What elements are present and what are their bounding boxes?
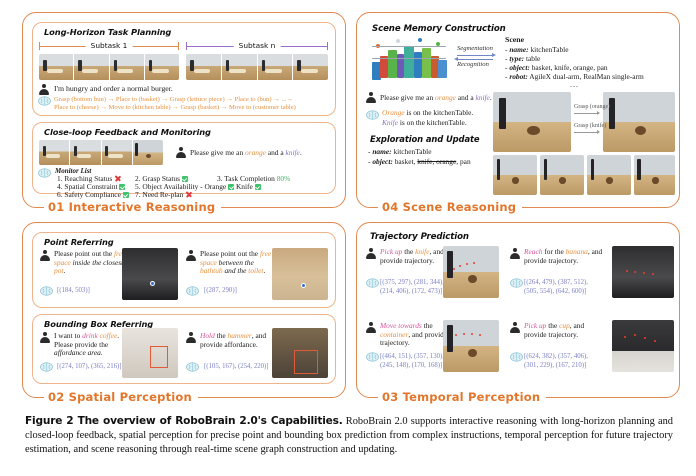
update-field-object: - object: basket, knife, orange, pan xyxy=(368,158,471,167)
field-value: kitchenTable xyxy=(392,147,432,156)
field-key: object: xyxy=(509,63,530,72)
brain-icon xyxy=(366,278,379,288)
video-frame xyxy=(70,140,100,165)
brain-icon xyxy=(40,362,53,372)
scene-image-seq-4 xyxy=(634,155,675,195)
video-frame xyxy=(39,140,69,165)
user-icon xyxy=(510,322,520,333)
panel-label-02: 02 Spatial Perception xyxy=(44,390,198,404)
q-line2: the closest xyxy=(92,258,123,267)
utterance-post: . xyxy=(300,148,302,157)
bbox-image-coffee xyxy=(122,328,178,378)
filmstrip-subtask-n xyxy=(186,54,328,80)
point-ref-answer-1: [(184, 503)] xyxy=(57,287,90,296)
caption-heading: Figure 2 The overview of RoboBrain 2.0's… xyxy=(25,415,343,427)
video-frame xyxy=(102,140,132,165)
user-icon xyxy=(176,147,186,158)
panel-label-03: 03 Temporal Perception xyxy=(378,390,546,404)
field-value: basket, knife, orange, pan xyxy=(530,63,608,72)
item-extra-label: Knife xyxy=(236,182,253,191)
user-icon xyxy=(186,332,196,343)
field-key: name: xyxy=(509,45,528,54)
trajectory-point xyxy=(459,265,461,267)
answer-text: is on the kitchenTable. xyxy=(405,108,474,117)
field-value: AgileX dual-arm, RealMan single-arm xyxy=(528,72,644,81)
user-icon xyxy=(366,322,376,333)
keyword-knife: knife xyxy=(475,93,489,102)
bracket-label-subtask-1: Subtask 1 xyxy=(86,41,133,50)
video-frame xyxy=(258,54,293,80)
trajectory-point xyxy=(626,270,628,272)
bracket-label-subtask-n: Subtask n xyxy=(234,41,281,50)
scene-image-seq-1 xyxy=(493,155,537,195)
trajectory-point xyxy=(624,336,626,338)
scene-heading: Scene xyxy=(505,36,524,45)
video-frame xyxy=(222,54,257,80)
q-line3: affordance area. xyxy=(54,348,103,357)
filmstrip-close-loop xyxy=(39,140,163,165)
scene-user-utterance: Please give me an orange and a knife. xyxy=(380,94,492,103)
bracket-subtask-1: Subtask 1 xyxy=(39,42,179,50)
user-icon xyxy=(510,248,520,259)
trajectory-point xyxy=(644,337,646,339)
check-icon xyxy=(123,192,129,198)
brain-icon xyxy=(186,362,199,372)
q-line2: trajectory. xyxy=(380,338,410,347)
traj-answer-1-line1: [(375, 297), (281, 344), xyxy=(380,279,444,288)
field-value: table xyxy=(524,54,540,63)
q-line2: provide trajectory. xyxy=(380,256,434,265)
scene-image-grasp-before xyxy=(493,92,571,152)
trajectory-point xyxy=(463,333,465,335)
cross-icon xyxy=(185,191,192,198)
traj-answer-4-line2: (301, 229), (167, 210)] xyxy=(524,362,586,371)
arrow-label-recognition: Recognition xyxy=(457,61,489,70)
q-line2: provide affordance. xyxy=(200,340,258,349)
predicted-bbox xyxy=(294,350,318,374)
grasp-arrow-line-bottom xyxy=(574,132,598,133)
field-value: kitchenTable xyxy=(529,45,569,54)
field-value-pre: basket, xyxy=(393,157,417,166)
q-end: . xyxy=(63,266,65,275)
point-ref-question-2: Please point out the free space between … xyxy=(200,250,276,276)
grasp-arrow-line-top xyxy=(574,113,598,114)
scene-image-seq-3 xyxy=(587,155,631,195)
segmentation-arrow-head xyxy=(492,53,496,57)
traj-answer-2-line1: [(264, 479), (387, 512), xyxy=(524,279,588,288)
traj-answer-3-line2: (245, 148), (170, 168)] xyxy=(380,362,442,371)
bbox-question-2: Hold the hammer, and provide affordance. xyxy=(200,332,276,349)
bracket-subtask-n: Subtask n xyxy=(186,42,328,50)
user-icon xyxy=(40,250,50,261)
predicted-bbox xyxy=(150,346,168,368)
q-end: . xyxy=(117,331,119,340)
brain-icon xyxy=(510,352,523,362)
keyword-knife: knife xyxy=(285,148,299,157)
brain-icon xyxy=(40,286,53,296)
bbox-answer-2: [(105, 167), (254, 220)] xyxy=(204,363,269,372)
task-completion-value: 80% xyxy=(277,174,291,183)
bbox-answer-1: [(274, 107), (365, 216)] xyxy=(57,363,122,372)
recognition-arrow-line xyxy=(457,59,493,60)
point-ref-image-1 xyxy=(122,248,178,300)
trajectory-point xyxy=(634,271,636,273)
plan-line-1: Grasp (bottom bun) → Place to (basket) →… xyxy=(54,96,293,104)
brain-icon xyxy=(510,278,523,288)
point-ref-image-2 xyxy=(272,248,328,300)
filmstrip-subtask-1 xyxy=(39,54,179,80)
grasp-label-knife: Grasp (knife) xyxy=(574,122,606,131)
video-frame xyxy=(133,140,163,165)
field-key: type: xyxy=(509,54,524,63)
update-field-name: - name: kitchenTable xyxy=(368,148,432,157)
segmentation-arrow-line xyxy=(457,55,493,56)
user-icon xyxy=(366,248,376,259)
arrow-label-segmentation: Segmentation xyxy=(457,45,493,54)
field-value-post: , pan xyxy=(456,157,470,166)
cross-icon xyxy=(114,175,121,182)
traj-answer-1-line2: (214, 406), (172, 473)] xyxy=(380,288,442,297)
keyword-knife: Knife xyxy=(382,118,398,127)
keyword-orange: orange xyxy=(245,148,266,157)
item-label: Safety Compliance xyxy=(64,190,120,199)
item-number: 7. xyxy=(135,190,141,199)
scene-image-grasp-after xyxy=(603,92,675,152)
utterance-post: . xyxy=(490,93,492,102)
brain-icon xyxy=(366,110,379,120)
trajectory-point xyxy=(466,263,468,265)
user-utterance-orange-knife: Please give me an orange and a knife. xyxy=(190,149,302,158)
panel-label-04: 04 Scene Reasoning xyxy=(378,200,522,214)
utterance-pre: Please give me an xyxy=(380,93,435,102)
card-title-trajectory-prediction: Trajectory Prediction xyxy=(366,232,473,242)
point-ref-question-1: Please point out the free space inside t… xyxy=(54,250,132,276)
card-title-point-referring: Point Referring xyxy=(40,237,118,247)
scene-answer-line-1: Orange is on the kitchenTable. xyxy=(382,109,473,118)
answer-text: is on the kitchenTable. xyxy=(398,118,467,127)
card-title-scene-memory: Scene Memory Construction xyxy=(368,24,510,34)
q-end: , xyxy=(588,247,590,256)
point-ref-answer-2: [(287, 290)] xyxy=(204,287,237,296)
predicted-point xyxy=(151,282,154,285)
scene-point-cloud xyxy=(366,36,452,82)
plan-line-2: Place to (cheese) → Move to (kitchen tab… xyxy=(54,104,296,112)
q-end: . xyxy=(263,266,265,275)
traj-image-knife xyxy=(443,246,499,298)
video-frame xyxy=(293,54,328,80)
keyword-toilet: toilet xyxy=(248,266,263,275)
utterance-pre: Please give me an xyxy=(190,148,245,157)
video-frame xyxy=(186,54,221,80)
field-key: object: xyxy=(372,157,393,166)
field-value-struck: knife, orange xyxy=(417,157,456,166)
traj-image-banana xyxy=(612,246,674,298)
card-title-close-loop: Close-loop Feedback and Monitoring xyxy=(40,127,215,137)
user-utterance-burger: I'm hungry and order a normal burger. xyxy=(54,85,173,94)
video-frame xyxy=(145,54,179,80)
traj-image-container xyxy=(443,320,499,372)
traj-image-cup xyxy=(612,320,674,372)
q-end: , and provide xyxy=(408,330,447,339)
utterance-mid: and a xyxy=(266,148,286,157)
check-icon xyxy=(255,184,261,190)
traj-answer-3-line1: [(464, 151), (357, 130), xyxy=(380,353,444,362)
scene-ellipsis: ... xyxy=(570,80,579,89)
keyword-orange: orange xyxy=(435,93,456,102)
utterance-mid: and a xyxy=(456,93,476,102)
scene-image-seq-2 xyxy=(540,155,584,195)
trajectory-point xyxy=(654,340,656,342)
check-icon xyxy=(228,184,234,190)
grasp-label-orange: Grasp (orange) xyxy=(574,103,610,112)
field-key: robot: xyxy=(509,72,527,81)
trajectory-point xyxy=(473,262,475,264)
traj-question-4: Pick up the cup, and provide trajectory. xyxy=(524,322,604,339)
q-line2: and the xyxy=(223,266,249,275)
user-icon xyxy=(40,332,50,343)
trajectory-point xyxy=(453,268,455,270)
trajectory-point xyxy=(455,334,457,336)
video-frame xyxy=(110,54,144,80)
bbox-image-hammer xyxy=(272,328,328,378)
monitor-item-6: 6. Safety Compliance xyxy=(57,191,129,200)
trajectory-point xyxy=(471,333,473,335)
grasp-arrow-head-top xyxy=(597,111,600,115)
video-frame xyxy=(39,54,73,80)
monitor-item-7: 7. Need Re-plan xyxy=(135,191,192,200)
card-title-exploration-update: Exploration and Update xyxy=(366,134,483,144)
brain-icon xyxy=(38,168,51,178)
q-relation: inside xyxy=(71,258,91,267)
figure-caption: Figure 2 The overview of RoboBrain 2.0's… xyxy=(25,414,673,458)
panel-label-01: 01 Interactive Reasoning xyxy=(44,200,221,214)
figure-canvas: 01 Interactive Reasoning Long-Horizon Ta… xyxy=(0,0,696,412)
item-number: 6. xyxy=(57,190,63,199)
user-icon xyxy=(366,92,376,103)
trajectory-point xyxy=(479,334,481,336)
keyword-orange: Orange xyxy=(382,108,405,117)
card-title-long-horizon: Long-Horizon Task Planning xyxy=(40,27,175,37)
keyword-bathtub: bathtub xyxy=(200,266,223,275)
scene-answer-line-2: Knife is on the kitchenTable. xyxy=(382,119,467,128)
trajectory-point xyxy=(634,334,636,336)
trajectory-point xyxy=(652,273,654,275)
brain-icon xyxy=(38,96,51,106)
user-icon xyxy=(186,250,196,261)
q-line2: provide trajectory. xyxy=(524,330,578,339)
video-frame xyxy=(74,54,108,80)
brain-icon xyxy=(186,286,199,296)
brain-icon xyxy=(366,352,379,362)
user-icon xyxy=(39,84,49,95)
bbox-question-1: I want to drink coffee. Please provide t… xyxy=(54,332,130,358)
item-label: Need Re-plan xyxy=(142,190,183,199)
traj-answer-2-line2: (505, 554), (642, 600)] xyxy=(524,288,586,297)
predicted-point xyxy=(302,284,305,287)
traj-answer-4-line1: [(624, 382), (357, 406), xyxy=(524,353,588,362)
field-key: name: xyxy=(372,147,391,156)
trajectory-point xyxy=(643,272,645,274)
grasp-arrow-head-bottom xyxy=(597,130,600,134)
traj-question-2: Reach for the banana, and provide trajec… xyxy=(524,248,604,265)
